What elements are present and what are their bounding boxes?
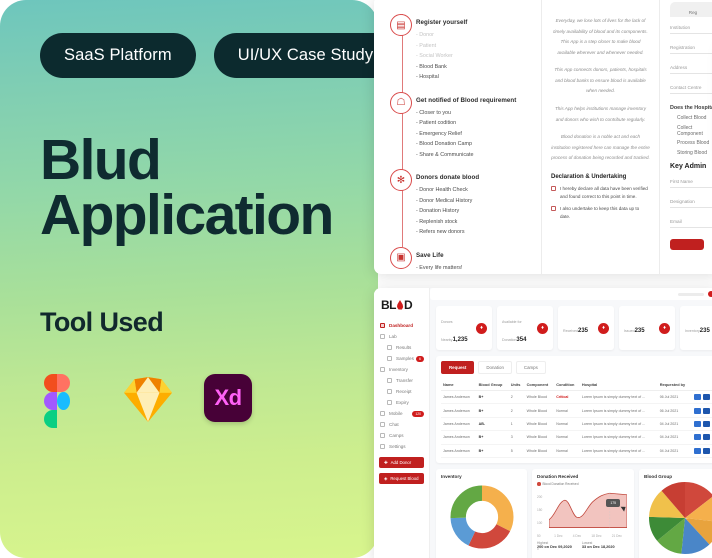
requests-panel: Request Donation Camps Name Blood Group …	[436, 356, 712, 463]
pill-saas-platform[interactable]: SaaS Platform	[40, 33, 196, 78]
declaration-text: I hereby declare all data have been veri…	[560, 185, 650, 201]
blud-logo: BLD	[374, 295, 429, 315]
received-icon: ♦	[598, 323, 609, 334]
sidebar-item-chat[interactable]: Chat	[374, 419, 429, 430]
notification-icon[interactable]	[708, 291, 712, 297]
timeline-content: Get notified of Blood requirement - Clos…	[416, 92, 516, 170]
table-row[interactable]: James AndersonAB-1Whole BloodNormalLorem…	[441, 417, 712, 430]
table-cell: 06 Jul 2021	[658, 391, 692, 404]
timeline-step: ▤ Register yourself - Donor - Patient - …	[390, 14, 533, 92]
blood-group-chart-card: Blood Group A+ A- B+	[639, 469, 712, 558]
timeline-heading: Register yourself	[416, 19, 467, 26]
dashboard-icon	[380, 323, 385, 328]
mobile-badge: 120	[412, 411, 424, 417]
row-actions[interactable]	[692, 431, 712, 444]
timeline-heading: Save Life	[416, 252, 462, 259]
stat-value: 235	[700, 328, 710, 334]
inventory-icon	[380, 367, 385, 372]
sidebar-item-expiry[interactable]: Expiry	[374, 397, 429, 408]
gear-icon	[380, 444, 385, 449]
tab-request[interactable]: Request	[441, 361, 474, 374]
y-tick: 100	[537, 517, 542, 530]
intro-paragraph: Everyday, we lose lots of lives for the …	[551, 16, 650, 58]
table-cell: 04 Jul 2021	[658, 444, 692, 457]
figma-shape-green	[44, 410, 57, 428]
chart-title: Donation Received	[537, 474, 629, 479]
tag-pill-group: SaaS Platform UI/UX Case Study	[40, 33, 378, 78]
slide-canvas: SaaS Platform UI/UX Case Study Blud Appl…	[0, 0, 712, 558]
sidebar-item-label: Receipt	[396, 389, 412, 394]
issued-icon: ♦	[659, 323, 670, 334]
receipt-icon	[387, 389, 392, 394]
view-action-icon	[694, 434, 701, 440]
lowest-value: 33 on Dec 18,2020	[582, 545, 615, 549]
timeline-item: - Social Worker	[416, 51, 467, 62]
form-option[interactable]: Storing Blood	[677, 150, 712, 156]
form-field-contact-centre[interactable]: Contact Centre	[670, 85, 712, 94]
field-underline	[670, 207, 712, 208]
blood-drop-icon	[397, 300, 404, 310]
timeline-rail: ✻	[390, 169, 416, 247]
form-submit-button[interactable]	[670, 239, 704, 250]
sidebar-item-label: Expiry	[396, 400, 409, 405]
sidebar-item-settings[interactable]: Settings	[374, 441, 429, 452]
table-row[interactable]: James AndersonB+2Whole BloodCriticalLore…	[441, 391, 712, 404]
form-field-email[interactable]: Email	[670, 219, 712, 228]
timeline-item: - Emergency Relief	[416, 129, 516, 140]
available-icon: ♦	[537, 323, 548, 334]
table-cell: B+	[477, 404, 509, 417]
timeline-item: - Closer to you	[416, 108, 516, 119]
topbar-placeholder	[678, 293, 704, 296]
table-cell: Whole Blood	[525, 444, 555, 457]
figma-shape-purple	[44, 392, 57, 410]
stat-value: 235	[635, 328, 645, 334]
sketch-logo	[122, 374, 176, 428]
panel-tabs: Request Donation Camps	[441, 361, 712, 374]
table-cell: 1	[509, 417, 525, 430]
intro-paragraph: This App connects donors, patients, hosp…	[551, 65, 650, 97]
form-option[interactable]: Collect Component	[677, 125, 712, 137]
sidebar-nav: Dashboard Lab Results Samples6 Inventory…	[374, 320, 429, 452]
table-cell: B+	[477, 391, 509, 404]
form-field-registration[interactable]: Registration	[670, 45, 712, 54]
title-line-2: Application	[40, 188, 370, 243]
timeline-heading: Donors donate blood	[416, 174, 479, 181]
results-icon	[387, 345, 392, 350]
timeline-item: - Refers new donors	[416, 227, 479, 238]
timeline-step: ☖ Get notified of Blood requirement - Cl…	[390, 92, 533, 170]
chat-icon	[380, 422, 385, 427]
clipboard-icon: ▤	[390, 14, 412, 36]
table-row[interactable]: James AndersonB+3Whole BloodNormalLorem …	[441, 431, 712, 444]
sidebar-item-label: Samples	[396, 356, 414, 361]
table-cell: James Anderson	[441, 391, 477, 404]
table-cell: Lorem Ipsum is simply dummy text of ...	[580, 417, 658, 430]
figma-shape-orange	[44, 374, 57, 392]
chart-summary: Highest200 on Dec 09,2020 Lowest33 on De…	[537, 541, 629, 549]
sidebar-item-lab[interactable]: Lab	[374, 331, 429, 342]
dashboard-main: Donors Nearby1,235 ♦ Available for Donat…	[430, 288, 712, 558]
mobile-icon	[380, 411, 385, 416]
table-cell: Normal	[554, 417, 580, 430]
table-cell: James Anderson	[441, 444, 477, 457]
sidebar-item-label: Results	[396, 345, 411, 350]
table-cell: Normal	[554, 431, 580, 444]
stat-card-issued[interactable]: Issued235 ♦	[619, 306, 675, 350]
stat-value: 235	[578, 328, 588, 334]
area-plot	[549, 488, 627, 532]
expiry-icon	[387, 400, 392, 405]
user-plus-icon: ✚	[384, 460, 388, 466]
form-tab[interactable]: Reg	[670, 2, 712, 17]
sidebar-item-label: Dashboard	[389, 323, 413, 328]
view-action-icon	[694, 394, 701, 400]
xd-icon: Xd	[204, 374, 252, 422]
stat-card-inventory[interactable]: Inventory235 ♦	[680, 306, 712, 350]
table-cell: 04 Jul 2021	[658, 431, 692, 444]
edit-action-icon	[703, 434, 710, 440]
col-name: Name	[441, 379, 477, 391]
table-cell: AB-	[477, 417, 509, 430]
requests-table: Name Blood Group Units Component Conditi…	[441, 379, 712, 458]
timeline-item: - Blood Donation Camp	[416, 139, 516, 150]
field-underline	[670, 93, 712, 94]
transfer-icon	[387, 378, 392, 383]
stat-value: 1,235	[453, 337, 468, 343]
stat-label: Donors Nearby	[441, 320, 453, 342]
timeline-item: - Hospital	[416, 72, 467, 83]
sidebar-item-camps[interactable]: Camps	[374, 430, 429, 441]
tab-camps[interactable]: Camps	[516, 361, 546, 374]
timeline-rail: ▤	[390, 14, 416, 92]
declaration-row[interactable]: I hereby declare all data have been veri…	[551, 185, 650, 201]
tab-donation[interactable]: Donation	[478, 361, 512, 374]
timeline-heading: Get notified of Blood requirement	[416, 97, 516, 104]
field-label: Registration	[670, 45, 712, 50]
legend-label: Blood Donation Received	[543, 482, 579, 486]
row-actions[interactable]	[692, 391, 712, 404]
field-underline	[670, 73, 712, 74]
field-label: Address	[670, 65, 712, 70]
hero-panel: SaaS Platform UI/UX Case Study Blud Appl…	[0, 0, 378, 558]
stat-card-donors-nearby[interactable]: Donors Nearby1,235 ♦	[436, 306, 492, 350]
timeline-item: - Blood Bank	[416, 62, 467, 73]
request-blood-label: Request Blood	[390, 476, 418, 481]
table-row[interactable]: James AndersonB+2Whole BloodNormalLorem …	[441, 404, 712, 417]
form-field-first-name[interactable]: First Name	[670, 179, 712, 188]
logo-text-bl: BL	[381, 298, 396, 312]
chart-row: Inventory Plasma Platelets Red Cells Who…	[436, 469, 712, 558]
table-cell: 2	[509, 391, 525, 404]
figma-shape-salmon	[57, 374, 70, 392]
donation-received-chart-card: Donation Received Blood Donation Receive…	[532, 469, 634, 558]
table-cell: James Anderson	[441, 417, 477, 430]
declaration-text: I also undertake to keep this data up to…	[560, 205, 650, 221]
intro-paragraph: This App helps institutions manage inven…	[551, 104, 650, 125]
edit-action-icon	[703, 408, 710, 414]
x-tick: 4 Dec	[573, 534, 581, 538]
onboarding-timeline: ▤ Register yourself - Donor - Patient - …	[374, 0, 542, 274]
stat-card-available[interactable]: Available for Donation354 ♦	[497, 306, 553, 350]
area-legend: Blood Donation Received	[537, 482, 629, 486]
donate-icon: ✻	[390, 169, 412, 191]
checkbox-icon[interactable]	[551, 186, 556, 191]
declaration-heading: Declaration & Undertaking	[551, 174, 650, 180]
form-option[interactable]: Collect Blood	[677, 115, 712, 121]
stat-value: 354	[516, 337, 526, 343]
chart-title: Inventory	[441, 474, 522, 479]
y-tick: 200	[537, 491, 542, 504]
table-cell: Lorem Ipsum is simply dummy text of ...	[580, 391, 658, 404]
legend-swatch	[537, 482, 541, 486]
x-axis-ticks: 1 Dec 4 Dec 18 Dec 21 Dec	[549, 534, 627, 538]
table-cell: B+	[477, 431, 509, 444]
table-header-row: Name Blood Group Units Component Conditi…	[441, 379, 712, 391]
field-underline	[670, 227, 712, 228]
stat-label: Received	[563, 329, 578, 333]
field-label: Designation	[670, 199, 712, 204]
row-actions[interactable]	[692, 417, 712, 430]
edit-action-icon	[703, 448, 710, 454]
timeline-item: - Donation History	[416, 206, 479, 217]
figma-logo	[40, 374, 94, 428]
chart-tooltip: 175	[606, 499, 620, 507]
checkbox-icon[interactable]	[551, 206, 556, 211]
drop-icon: ◈	[384, 476, 387, 482]
form-field-institution[interactable]: Institution	[670, 25, 712, 34]
view-action-icon	[694, 421, 701, 427]
registration-screen-mockup: ▤ Register yourself - Donor - Patient - …	[374, 0, 712, 274]
description-column: Everyday, we lose lots of lives for the …	[542, 0, 660, 274]
inventory-chart-card: Inventory Plasma Platelets Red Cells Who…	[436, 469, 527, 558]
row-actions[interactable]	[692, 444, 712, 457]
field-underline	[670, 33, 712, 34]
table-cell: Whole Blood	[525, 404, 555, 417]
table-cell: Lorem Ipsum is simply dummy text of ...	[580, 431, 658, 444]
sidebar-item-samples[interactable]: Samples6	[374, 353, 429, 364]
dashboard-screen-mockup: BLD Dashboard Lab Results Samples6 Inven…	[374, 288, 712, 558]
dashboard-sidebar: BLD Dashboard Lab Results Samples6 Inven…	[374, 288, 430, 558]
col-hospital: Hospital	[580, 379, 658, 391]
timeline-item: - Donor Medical History	[416, 196, 479, 207]
timeline-step: ✻ Donors donate blood - Donor Health Che…	[390, 169, 533, 247]
sidebar-item-label: Camps	[389, 433, 404, 438]
form-field-address[interactable]: Address	[670, 65, 712, 74]
table-cell: 04 Jul 2021	[658, 417, 692, 430]
timeline-rail: ▣	[390, 247, 416, 274]
form-section-heading: Key Admin	[670, 163, 712, 170]
y-tick: 50	[537, 530, 542, 543]
table-cell: Whole Blood	[525, 417, 555, 430]
logo-text-d: D	[404, 298, 412, 312]
sidebar-item-inventory[interactable]: Inventory	[374, 364, 429, 375]
registration-form-column: Reg Institution Registration Address Con…	[660, 0, 712, 274]
table-cell: 5	[509, 444, 525, 457]
form-question: Does the Hospital	[670, 105, 712, 111]
form-field-designation[interactable]: Designation	[670, 199, 712, 208]
donor-icon: ♦	[476, 323, 487, 334]
table-cell: 06 Jul 2021	[658, 404, 692, 417]
table-cell: 2	[509, 404, 525, 417]
add-donor-button[interactable]: ✚Add Donor	[379, 457, 424, 468]
sidebar-item-label: Inventory	[389, 367, 408, 372]
sidebar-item-label: Settings	[389, 444, 406, 449]
sketch-diamond-icon	[122, 374, 174, 424]
pill-uiux-case-study[interactable]: UI/UX Case Study	[214, 33, 378, 78]
samples-icon	[387, 356, 392, 361]
page-title: Blud Application	[40, 133, 370, 244]
field-label: Contact Centre	[670, 85, 712, 90]
stat-card-group: Donors Nearby1,235 ♦ Available for Donat…	[436, 306, 712, 350]
timeline-item: - Patient codition	[416, 118, 516, 129]
sidebar-item-label: Lab	[389, 334, 397, 339]
table-cell: B+	[477, 444, 509, 457]
timeline-item: - Patient	[416, 41, 467, 52]
intro-paragraph: Blood donation is a noble act and each i…	[551, 132, 650, 164]
request-blood-button[interactable]: ◈Request Blood	[379, 473, 424, 484]
y-axis-ticks: 200 150 100 50 0	[537, 491, 542, 556]
add-donor-label: Add Donor	[391, 460, 412, 465]
table-cell: Normal	[554, 404, 580, 417]
chart-title: Blood Group	[644, 474, 712, 479]
sidebar-item-dashboard[interactable]: Dashboard	[374, 320, 429, 331]
col-units: Units	[509, 379, 525, 391]
timeline-content: Save Life - Every life matters!	[416, 247, 462, 274]
blood-group-pie	[649, 482, 712, 554]
timeline-step: ▣ Save Life - Every life matters!	[390, 247, 533, 274]
timeline-item: - Donor Health Check	[416, 185, 479, 196]
table-row[interactable]: James AndersonB+5Whole BloodNormalLorem …	[441, 444, 712, 457]
field-label: Email	[670, 219, 712, 224]
samples-badge: 6	[416, 356, 424, 362]
sidebar-item-transfer[interactable]: Transfer	[374, 375, 429, 386]
table-cell: James Anderson	[441, 404, 477, 417]
timeline-item: - Donor	[416, 30, 467, 41]
table-cell: 3	[509, 431, 525, 444]
sidebar-item-receipt[interactable]: Receipt	[374, 386, 429, 397]
blood-bag-icon: ▣	[390, 247, 412, 269]
timeline-rail: ☖	[390, 92, 416, 170]
edit-action-icon	[703, 421, 710, 427]
adobe-xd-logo: Xd	[204, 374, 258, 428]
view-action-icon	[694, 448, 701, 454]
figma-shape-blue	[57, 392, 70, 410]
col-blood-group: Blood Group	[477, 379, 509, 391]
inventory-donut	[447, 482, 517, 552]
title-line-1: Blud	[40, 133, 370, 188]
sidebar-item-mobile[interactable]: Mobile120	[374, 408, 429, 419]
camps-icon	[380, 433, 385, 438]
lab-icon	[380, 334, 385, 339]
timeline-item: - Replenish stock	[416, 217, 479, 228]
y-tick: 0	[537, 543, 542, 556]
timeline-content: Donors donate blood - Donor Health Check…	[416, 169, 479, 247]
col-actions	[692, 379, 712, 391]
table-cell: Whole Blood	[525, 391, 555, 404]
timeline-content: Register yourself - Donor - Patient - So…	[416, 14, 467, 92]
stat-label: Issued	[624, 329, 635, 333]
table-cell: Critical	[554, 391, 580, 404]
sidebar-item-label: Chat	[389, 422, 399, 427]
edit-action-icon	[703, 394, 710, 400]
sidebar-item-label: Mobile	[389, 411, 403, 416]
field-underline	[670, 53, 712, 54]
y-tick: 150	[537, 504, 542, 517]
col-condition: Condition	[554, 379, 580, 391]
stat-card-received[interactable]: Received235 ♦	[558, 306, 614, 350]
field-label: Institution	[670, 25, 712, 30]
dashboard-topbar	[430, 288, 712, 300]
bell-icon: ☖	[390, 92, 412, 114]
sidebar-item-label: Transfer	[396, 378, 413, 383]
declaration-row[interactable]: I also undertake to keep this data up to…	[551, 205, 650, 221]
col-requested-by: Requested by	[658, 379, 692, 391]
field-underline	[670, 187, 712, 188]
timeline-item: - Share & Communicate	[416, 150, 516, 161]
tool-logo-group: Xd	[40, 374, 258, 428]
timeline-item: - Every life matters!	[416, 263, 462, 274]
table-cell: Lorem Ipsum is simply dummy text of ...	[580, 404, 658, 417]
table-cell: Whole Blood	[525, 431, 555, 444]
field-label: First Name	[670, 179, 712, 184]
row-actions[interactable]	[692, 404, 712, 417]
table-cell: Normal	[554, 444, 580, 457]
intro-copy: Everyday, we lose lots of lives for the …	[551, 16, 650, 164]
table-cell: James Anderson	[441, 431, 477, 444]
sidebar-item-results[interactable]: Results	[374, 342, 429, 353]
form-option[interactable]: Process Blood	[677, 140, 712, 146]
x-tick: 1 Dec	[554, 534, 562, 538]
view-action-icon	[694, 408, 701, 414]
x-tick: 21 Dec	[612, 534, 622, 538]
col-component: Component	[525, 379, 555, 391]
table-body: James AndersonB+2Whole BloodCriticalLore…	[441, 391, 712, 458]
table-cell: Lorem Ipsum is simply dummy text of ...	[580, 444, 658, 457]
stat-label: Inventory	[685, 329, 700, 333]
tool-used-heading: Tool Used	[40, 307, 163, 338]
x-tick: 18 Dec	[591, 534, 601, 538]
